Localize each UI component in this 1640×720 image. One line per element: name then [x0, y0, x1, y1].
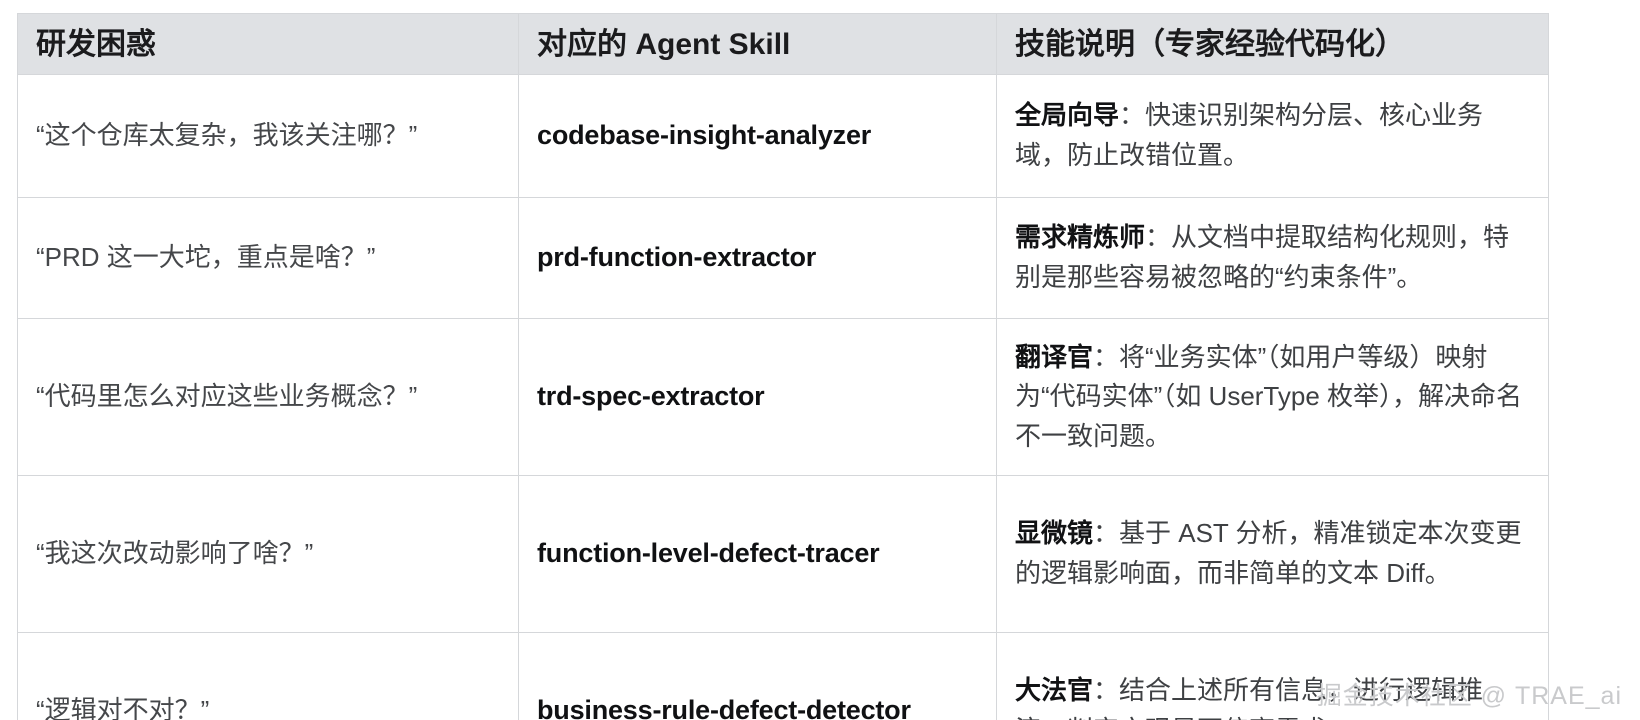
- table-row: “代码里怎么对应这些业务概念？” trd-spec-extractor 翻译官：…: [18, 319, 1549, 476]
- cell-description: 显微镜：基于 AST 分析，精准锁定本次变更的逻辑影响面，而非简单的文本 Dif…: [997, 476, 1549, 633]
- column-header-pain: 研发困惑: [18, 14, 519, 75]
- description-role-label: 翻译官: [1015, 342, 1093, 372]
- table-row: “逻辑对不对？” business-rule-defect-detector 大…: [18, 633, 1549, 720]
- skill-table-container: 研发困惑 对应的 Agent Skill 技能说明（专家经验代码化） “这个仓库…: [17, 13, 1548, 720]
- agent-skill-table: 研发困惑 对应的 Agent Skill 技能说明（专家经验代码化） “这个仓库…: [17, 13, 1549, 720]
- description-role-label: 显微镜: [1015, 518, 1093, 548]
- cell-description: 全局向导：快速识别架构分层、核心业务域，防止改错位置。: [997, 75, 1549, 198]
- cell-skill-name: business-rule-defect-detector: [519, 633, 997, 720]
- document-page: 研发困惑 对应的 Agent Skill 技能说明（专家经验代码化） “这个仓库…: [0, 0, 1640, 720]
- table-body: “这个仓库太复杂，我该关注哪？” codebase-insight-analyz…: [18, 75, 1549, 720]
- cell-pain: “PRD 这一大坨，重点是啥？”: [18, 198, 519, 319]
- table-row: “PRD 这一大坨，重点是啥？” prd-function-extractor …: [18, 198, 1549, 319]
- column-header-skill: 对应的 Agent Skill: [519, 14, 997, 75]
- table-row: “我这次改动影响了啥？” function-level-defect-trace…: [18, 476, 1549, 633]
- cell-pain: “代码里怎么对应这些业务概念？”: [18, 319, 519, 476]
- cell-description: 大法官：结合上述所有信息，进行逻辑推演，判定实现是否偏离需求。: [997, 633, 1549, 720]
- table-header-row: 研发困惑 对应的 Agent Skill 技能说明（专家经验代码化）: [18, 14, 1549, 75]
- cell-skill-name: function-level-defect-tracer: [519, 476, 997, 633]
- cell-description: 翻译官：将“业务实体”（如用户等级）映射为“代码实体”（如 UserType 枚…: [997, 319, 1549, 476]
- column-header-description: 技能说明（专家经验代码化）: [997, 14, 1549, 75]
- description-role-label: 全局向导: [1015, 100, 1119, 130]
- table-header: 研发困惑 对应的 Agent Skill 技能说明（专家经验代码化）: [18, 14, 1549, 75]
- description-role-label: 需求精炼师: [1015, 222, 1145, 252]
- cell-description: 需求精炼师：从文档中提取结构化规则，特别是那些容易被忽略的“约束条件”。: [997, 198, 1549, 319]
- cell-pain: “逻辑对不对？”: [18, 633, 519, 720]
- table-row: “这个仓库太复杂，我该关注哪？” codebase-insight-analyz…: [18, 75, 1549, 198]
- cell-skill-name: trd-spec-extractor: [519, 319, 997, 476]
- description-role-label: 大法官: [1015, 675, 1093, 705]
- cell-skill-name: prd-function-extractor: [519, 198, 997, 319]
- cell-skill-name: codebase-insight-analyzer: [519, 75, 997, 198]
- cell-pain: “这个仓库太复杂，我该关注哪？”: [18, 75, 519, 198]
- cell-pain: “我这次改动影响了啥？”: [18, 476, 519, 633]
